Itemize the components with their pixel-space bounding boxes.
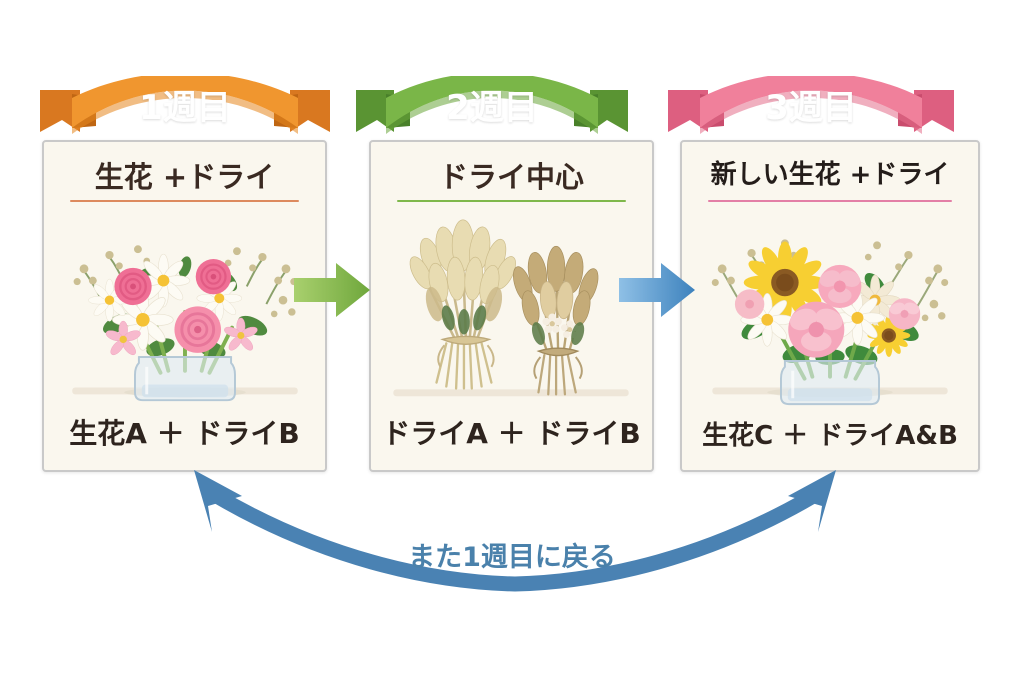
week-card-1-divider xyxy=(70,200,299,202)
arrow-week1-to-week2 xyxy=(292,258,372,322)
week-card-2-divider xyxy=(397,200,626,202)
week-card-1-caption: 生花A ＋ ドライB xyxy=(44,412,325,452)
week-ribbon-1: 1週目 xyxy=(40,76,330,148)
week-card-2-subtitle: ドライ中心 xyxy=(371,154,652,196)
week-card-3-divider xyxy=(708,200,952,202)
week-card-1-artwork xyxy=(44,210,325,410)
week-card-1: 生花 +ドライ xyxy=(42,140,327,472)
infographic-canvas: 生花 +ドライ xyxy=(0,0,1024,683)
cycle-label: また1週目に戻る xyxy=(0,535,1024,574)
week-ribbon-2: 2週目 xyxy=(356,76,628,148)
week-ribbon-3: 3週目 xyxy=(668,76,954,148)
week-card-3-artwork xyxy=(682,210,978,410)
week-card-1-subtitle: 生花 +ドライ xyxy=(44,154,325,196)
week-card-3-subtitle: 新しい生花 +ドライ xyxy=(682,154,978,191)
arrow-week2-to-week3 xyxy=(617,258,697,322)
week-card-2: ドライ中心 xyxy=(369,140,654,472)
week-card-2-caption: ドライA ＋ ドライB xyxy=(371,412,652,452)
week-card-3: 新しい生花 +ドライ xyxy=(680,140,980,472)
week-card-2-artwork xyxy=(371,210,652,410)
week-card-3-caption: 生花C ＋ ドライA&B xyxy=(682,415,978,452)
